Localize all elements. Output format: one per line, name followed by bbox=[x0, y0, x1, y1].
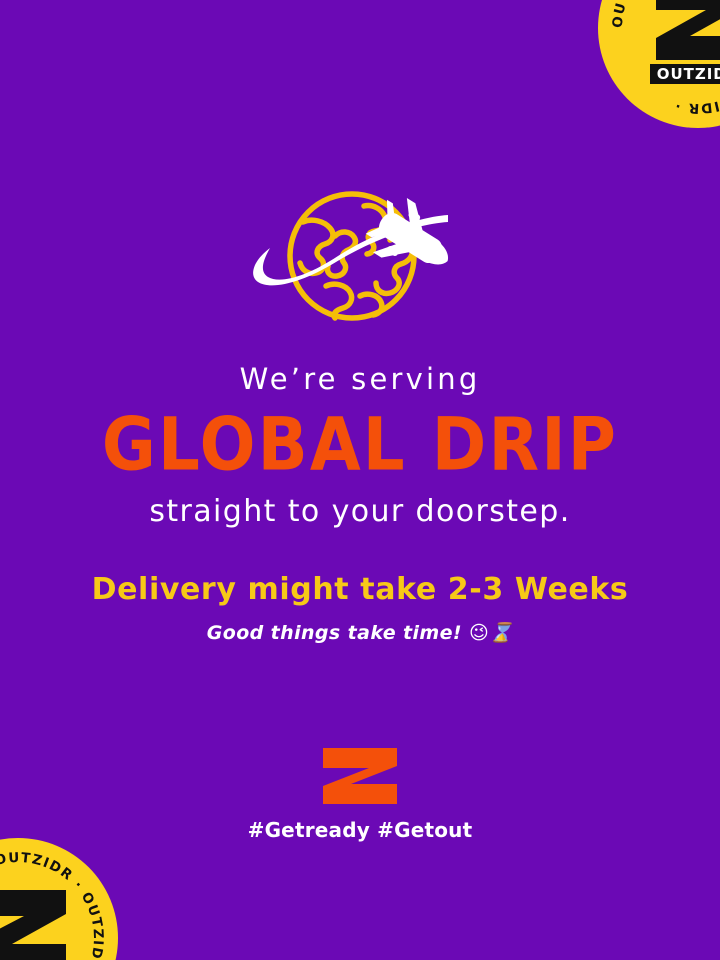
badge-z-mark-bottom-left bbox=[0, 890, 66, 960]
promo-poster: OUTZIDR · OUTZIDR · OUTZIDR · OUTZIDR · … bbox=[0, 0, 720, 960]
copy-block: We’re serving GLOBAL DRIP straight to yo… bbox=[0, 363, 720, 645]
hashtags-text: #Getready #Getout bbox=[0, 818, 720, 842]
badge-top-right: OUTZIDR · OUTZIDR · OUTZIDR · OUTZIDR · … bbox=[598, 0, 720, 128]
globe-icon bbox=[290, 194, 414, 318]
footer-lockup: #Getready #Getout bbox=[0, 746, 720, 842]
svg-text:OUTZIDR: OUTZIDR bbox=[657, 65, 720, 83]
badge-bottom-left: OUTZIDR · OUTZIDR · OUTZIDR · OUTZIDR · … bbox=[0, 838, 118, 960]
eyebrow-text: We’re serving bbox=[0, 363, 720, 396]
subhead-text: straight to your doorstep. bbox=[0, 494, 720, 530]
page-title: GLOBAL DRIP bbox=[0, 408, 720, 481]
hero-graphic bbox=[0, 178, 720, 338]
delivery-note: Delivery might take 2-3 Weeks bbox=[0, 572, 720, 608]
badge-wordmark-top-right: OUTZIDR bbox=[650, 64, 720, 84]
badge-z-mark-top-right bbox=[656, 0, 720, 60]
reassurance-text: Good things take time! 😉⌛ bbox=[0, 622, 720, 645]
brand-z-mark bbox=[321, 746, 399, 806]
